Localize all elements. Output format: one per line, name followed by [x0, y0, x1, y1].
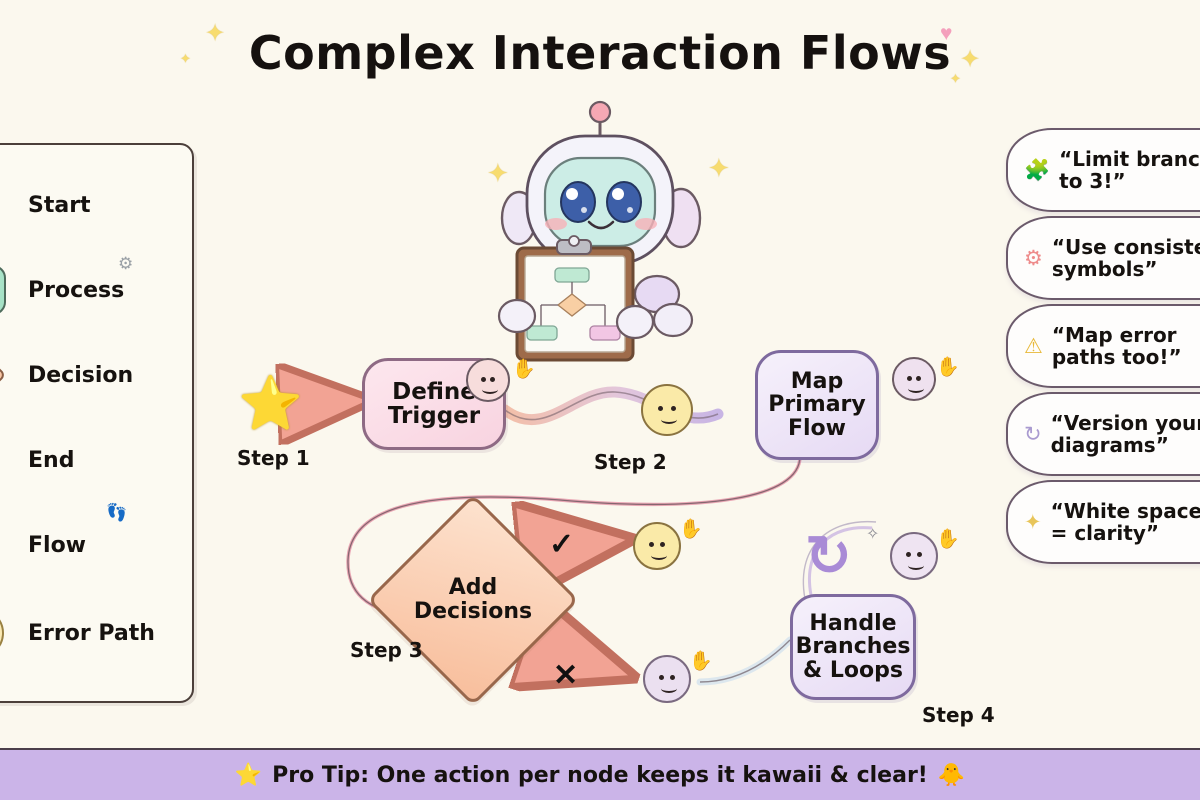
sparkle-gray-icon: ✧ [866, 524, 879, 544]
legend-item-error-path[interactable]: ~ ● Error Path [0, 593, 188, 673]
kawaii-face-handle-branches [890, 532, 938, 580]
step-label-3: Step 3 [350, 638, 423, 662]
node-handle-branches[interactable]: Handle Branches & Loops [790, 594, 916, 700]
gear-icon-tip: ⚙ [1024, 248, 1043, 269]
tip-text-3: “Map error paths too!” [1052, 324, 1182, 369]
kawaii-robot-mascot [485, 98, 715, 363]
kawaii-face-define-trigger [466, 358, 510, 402]
tip-text-5: “White space = clarity” [1051, 500, 1200, 545]
sparkle-icon-right: ✦ [960, 48, 980, 72]
tip-cloud-5[interactable]: ✦ “White space = clarity” [1006, 480, 1200, 564]
tip-text-2: “Use consistent symbols” [1052, 236, 1200, 281]
waving-hand-icon-1: ✋ [512, 360, 536, 379]
version-refresh-icon: ↻ [1024, 424, 1042, 445]
page-title: Complex Interaction Flows [249, 26, 951, 80]
tip-cloud-1[interactable]: 🧩 “Limit branches to 3!” [1006, 128, 1200, 212]
legend-label-process: Process [28, 278, 124, 303]
legend-item-process[interactable]: ◡ ● Process ⚙ [0, 250, 188, 330]
kawaii-face-branch-true [633, 522, 681, 570]
flow-arrow-icon: ➡ [0, 514, 10, 576]
footer-text: Pro Tip: One action per node keeps it ka… [272, 763, 928, 788]
start-star-icon: ⭐ [238, 378, 303, 430]
tip-text-1: “Limit branches to 3!” [1059, 148, 1200, 193]
sparkle-small-icon-right: ✦ [950, 72, 961, 85]
decision-diamond-icon: ? [0, 344, 10, 406]
process-rect-icon: ◡ ● [0, 259, 10, 321]
branch-true-marker: ✓ [549, 527, 574, 562]
node-map-primary-flow-label: Map Primary Flow [768, 370, 865, 440]
legend-item-end[interactable]: ✓ End [0, 420, 188, 500]
gear-icon: ⚙ [118, 254, 133, 274]
footer-banner: ⭐ Pro Tip: One action per node keeps it … [0, 748, 1200, 800]
tip-cloud-2[interactable]: ⚙ “Use consistent symbols” [1006, 216, 1200, 300]
waving-hand-icon-4: ✋ [689, 652, 713, 671]
step-label-4: Step 4 [922, 703, 995, 727]
start-circle-icon: ◡ ● [0, 174, 10, 236]
sparkle-icon: ✦ [205, 22, 225, 46]
warning-icon: ⚠ [1024, 336, 1043, 357]
tip-cloud-3[interactable]: ⚠ “Map error paths too!” [1006, 304, 1200, 388]
legend-label-decision: Decision [28, 363, 133, 388]
star-icon-footer: ⭐ [235, 764, 262, 786]
error-cloud-icon: ~ ● [0, 602, 10, 664]
node-handle-branches-label: Handle Branches & Loops [796, 612, 911, 682]
kawaii-face-map-primary [892, 357, 936, 401]
footprints-icon: 👣 [106, 503, 127, 523]
tip-text-4: “Version your diagrams” [1051, 412, 1200, 457]
waving-hand-icon-2: ✋ [936, 358, 960, 377]
legend-label-end: End [28, 448, 74, 473]
tips-panel: 🧩 “Limit branches to 3!” ⚙ “Use consiste… [1006, 128, 1200, 568]
legend-item-decision[interactable]: ? Decision [0, 335, 188, 415]
end-check-icon: ✓ [0, 429, 10, 491]
step-label-1: Step 1 [237, 446, 310, 470]
kawaii-face-branch-false [643, 655, 691, 703]
waving-hand-icon-5: ✋ [936, 530, 960, 549]
kawaii-face-step2 [641, 384, 693, 436]
loop-refresh-icon: ↻ [805, 528, 852, 584]
tip-cloud-4[interactable]: ↻ “Version your diagrams” [1006, 392, 1200, 476]
node-add-decisions-label: Add Decisions [414, 576, 532, 624]
heart-icon: ♥ [940, 22, 952, 46]
sparkle-icon-tip: ✦ [1024, 512, 1042, 533]
legend-item-flow[interactable]: ➡ Flow 👣 [0, 505, 188, 585]
legend-label-flow: Flow [28, 533, 86, 558]
legend-label-error-path: Error Path [28, 621, 155, 646]
sparkle-small-icon: ✦ [180, 52, 191, 65]
step-label-2: Step 2 [594, 450, 667, 474]
node-map-primary-flow[interactable]: Map Primary Flow [755, 350, 879, 460]
waving-hand-icon-3: ✋ [679, 520, 703, 539]
legend-label-start: Start [28, 193, 91, 218]
branch-false-marker: ✕ [553, 658, 578, 693]
chick-icon-footer: 🐥 [938, 764, 965, 786]
infographic-canvas: Complex Interaction Flows ✦ ✦ ♥ ✦ ✦ ✦ ✦ … [0, 0, 1200, 800]
legend-panel: ◡ ● Start ◡ ● Process ⚙ ? Decision [0, 143, 194, 703]
puzzle-icon: 🧩 [1024, 160, 1050, 181]
legend-item-start[interactable]: ◡ ● Start [0, 165, 188, 245]
